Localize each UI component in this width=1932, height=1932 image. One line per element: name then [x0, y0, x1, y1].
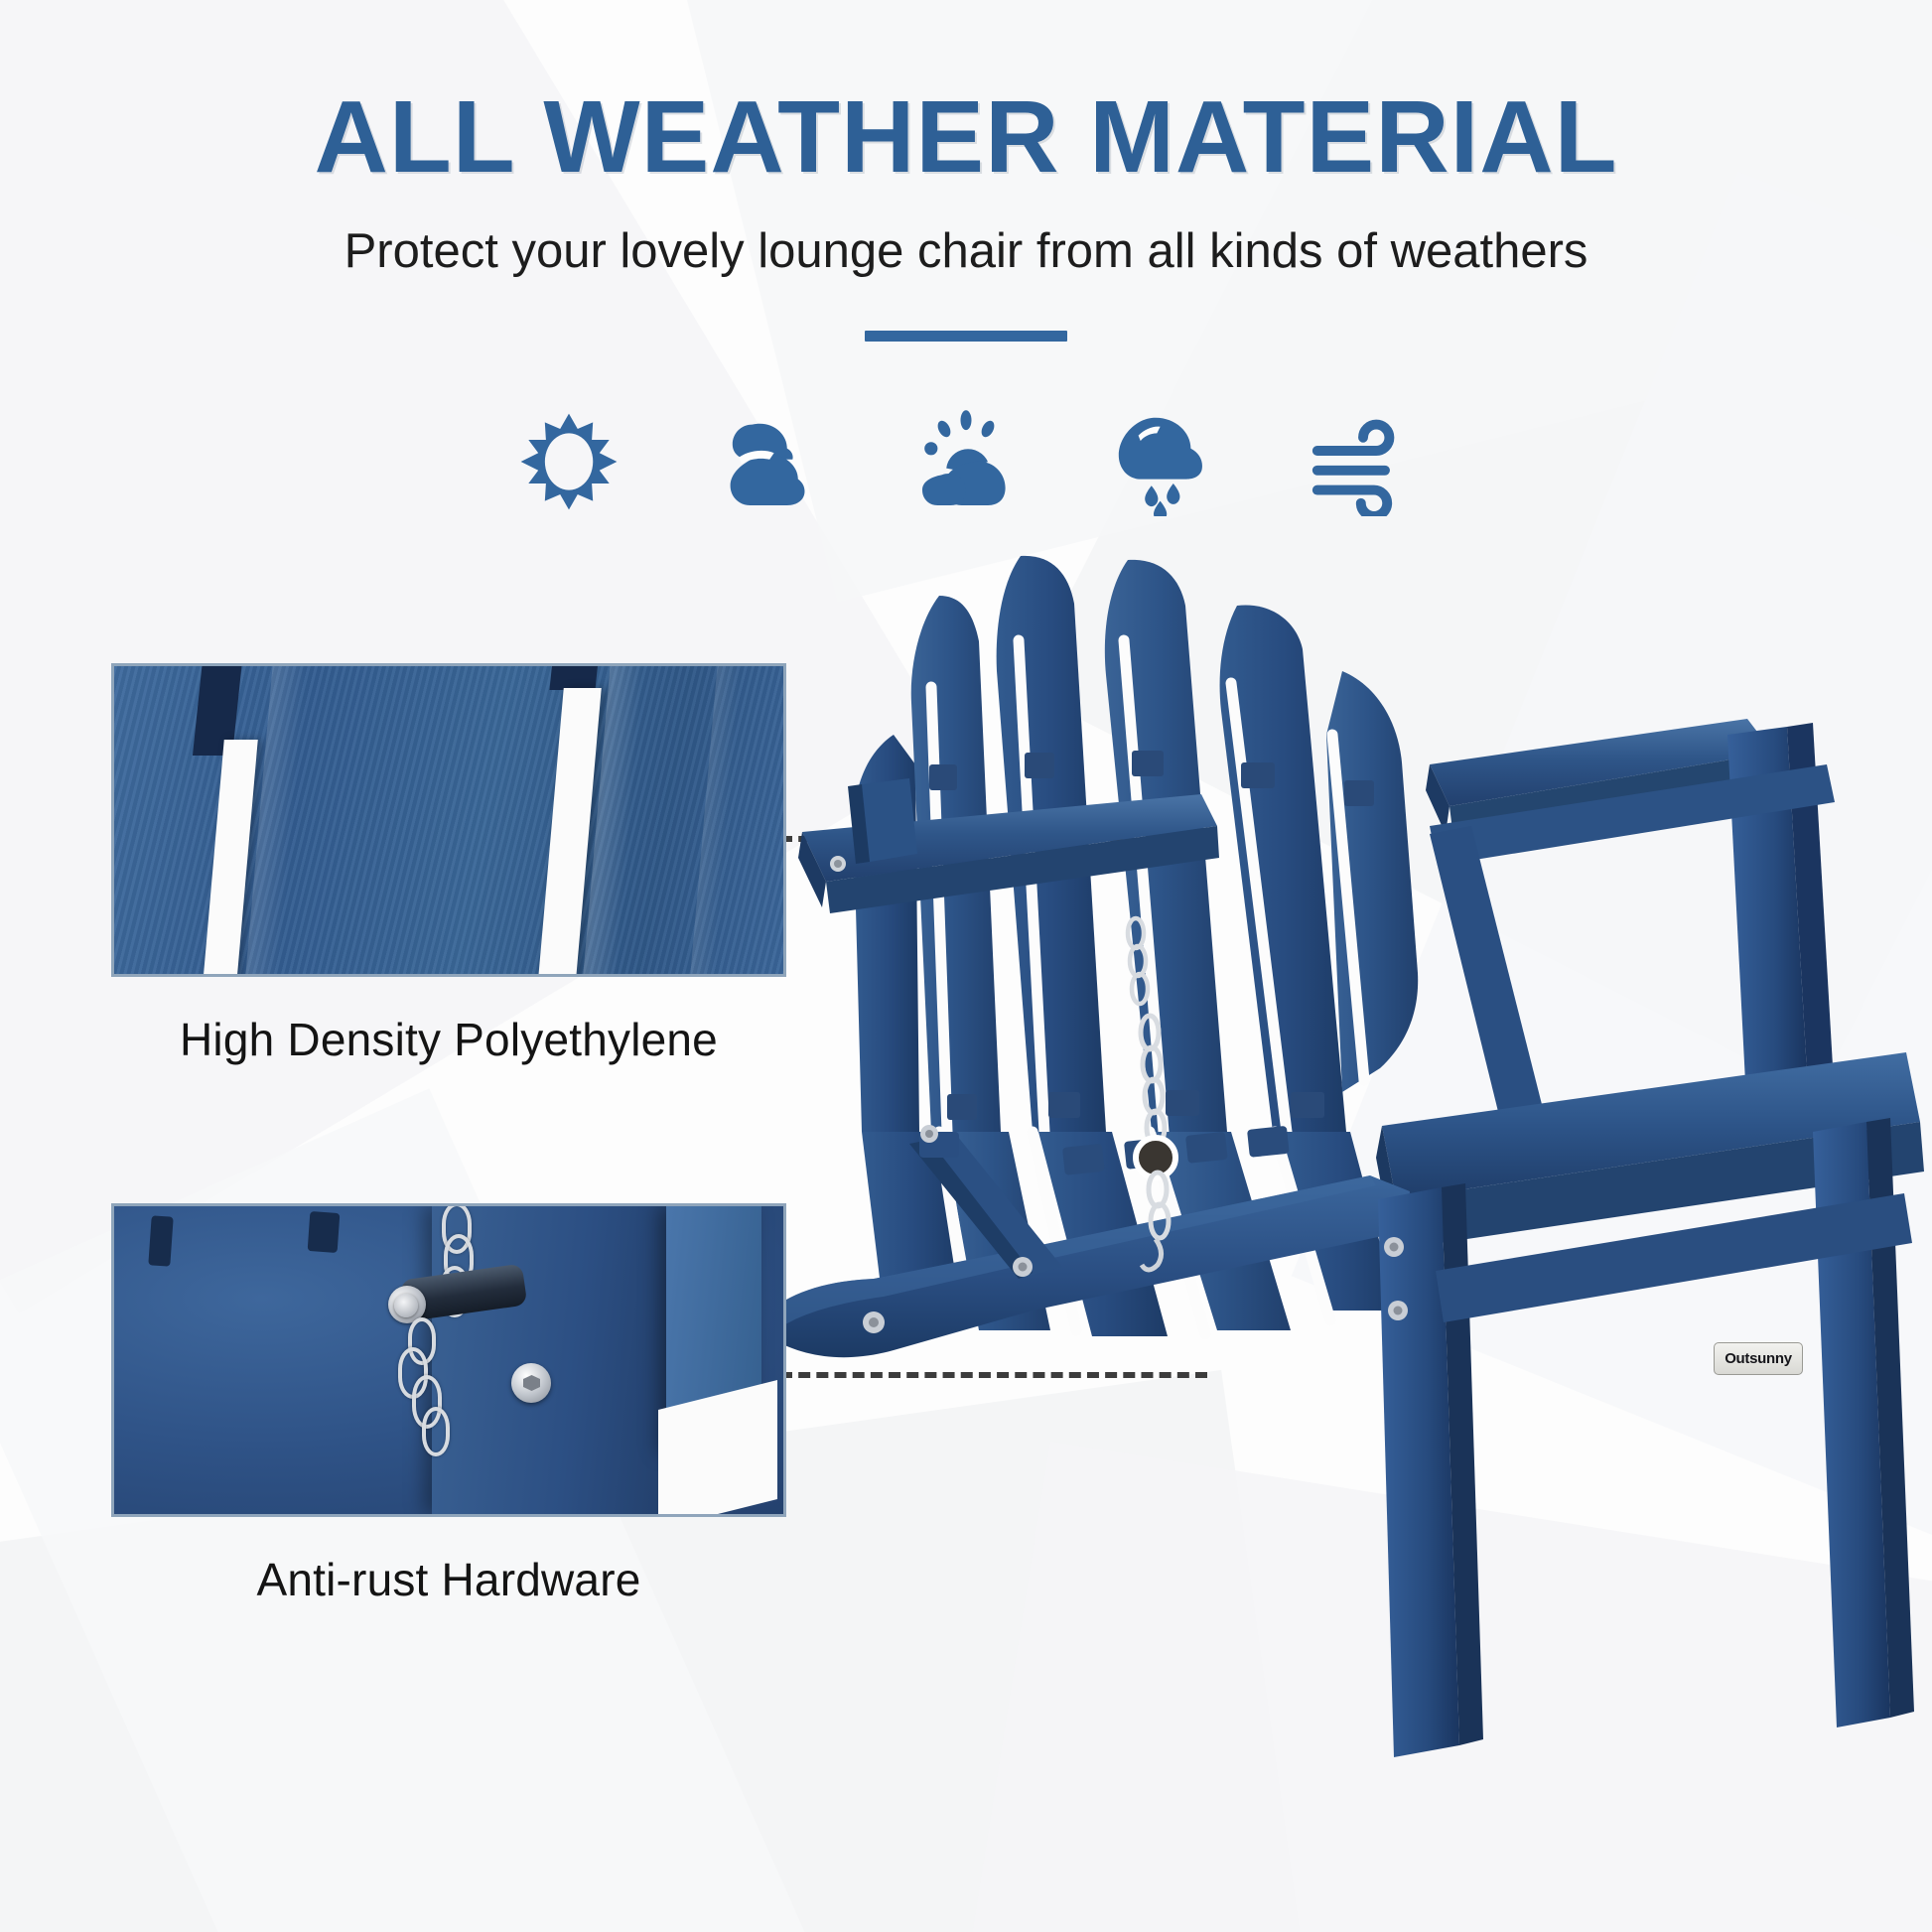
feature-caption-hardware: Anti-rust Hardware [111, 1517, 786, 1606]
hardware-washer-inner [394, 1294, 418, 1317]
hardware-notch-2 [308, 1211, 341, 1253]
infographic-page: ALL WEATHER MATERIAL Protect your lovely… [0, 0, 1932, 1932]
page-subtitle: Protect your lovely lounge chair from al… [0, 188, 1932, 279]
feature-caption-hdpe: High Density Polyethylene [111, 977, 786, 1066]
feature-image-hardware [111, 1203, 786, 1517]
feature-panel-hardware: Anti-rust Hardware [111, 1203, 786, 1606]
header-divider [865, 331, 1067, 342]
chair-illustration [735, 437, 1932, 1926]
page-title: ALL WEATHER MATERIAL [0, 0, 1932, 188]
header: ALL WEATHER MATERIAL Protect your lovely… [0, 0, 1932, 342]
hardware-notch-1 [148, 1215, 173, 1266]
brand-label: Outsunny [1725, 1350, 1792, 1367]
chain-link-7 [422, 1407, 450, 1456]
sun-icon [510, 407, 627, 516]
hdpe-gap-shadow-2 [549, 663, 598, 690]
feature-panel-hdpe: High Density Polyethylene [111, 663, 786, 1066]
product-image-chair [735, 437, 1932, 1926]
brand-plate: Outsunny [1714, 1342, 1803, 1375]
feature-image-hdpe [111, 663, 786, 977]
